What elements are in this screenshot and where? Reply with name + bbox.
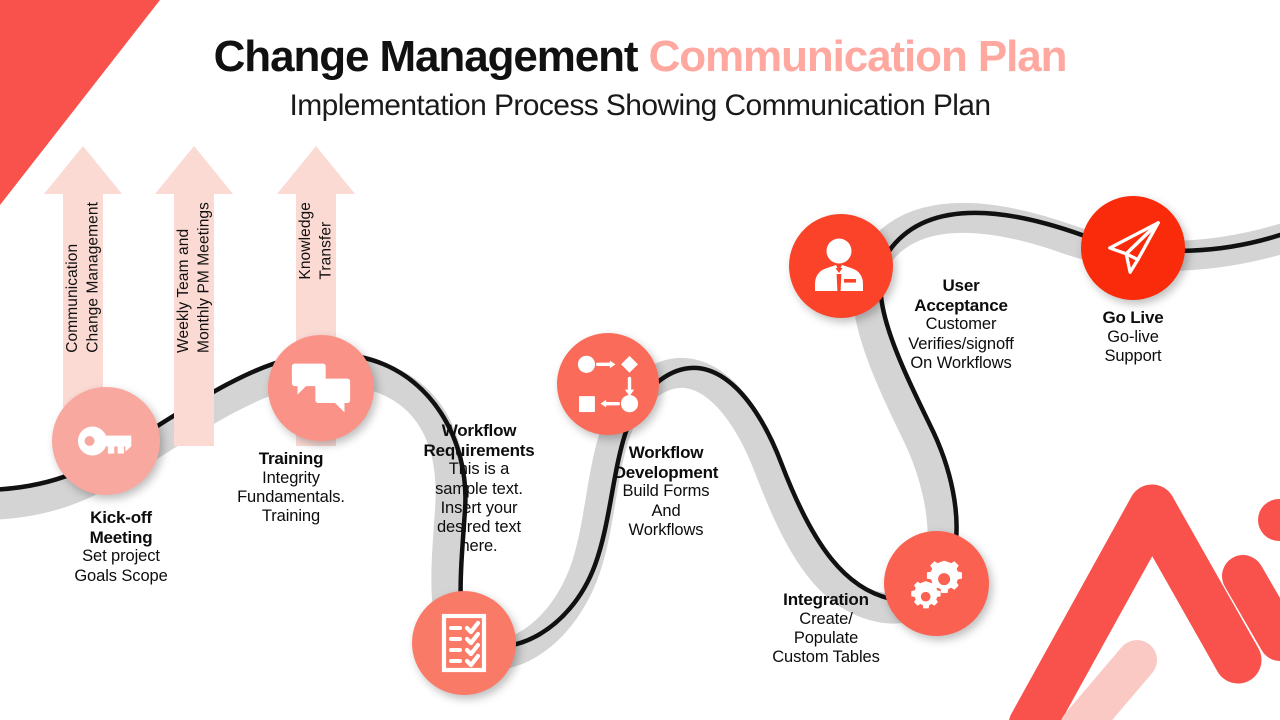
node-kickoff[interactable] [52,387,160,495]
paper-plane-icon [1102,217,1164,279]
arrow-shaft [174,194,214,446]
page-title-main: Change Management [214,32,649,81]
caption-desc: Create/ Populate Custom Tables [736,610,916,667]
node-go-live[interactable] [1081,196,1185,300]
caption-desc: Go-live Support [1055,328,1211,366]
caption-workflow-development: Workflow Development Build Forms And Wor… [585,443,747,540]
arrow-head [44,146,122,194]
page-title-accent: Communication Plan [649,32,1067,81]
caption-go-live: Go Live Go-live Support [1055,308,1211,366]
page-subtitle: Implementation Process Showing Communica… [0,89,1280,123]
node-workflow-development[interactable] [557,333,659,435]
chat-bubbles-icon [290,362,352,414]
caption-title: Go Live [1055,308,1211,328]
caption-desc: Customer Verifies/signoff On Workflows [882,315,1040,372]
caption-desc: Set project Goals Scope [28,547,214,585]
checklist-icon [439,613,489,673]
arrow-head [277,146,355,194]
caption-title: Workflow Development [585,443,747,482]
node-user-acceptance[interactable] [789,214,893,318]
caption-title: Workflow Requirements [396,421,562,460]
caption-desc: This is a sample text. Insert your desir… [396,460,562,556]
caption-title: Kick-off Meeting [28,508,214,547]
node-training[interactable] [268,335,374,441]
node-workflow-requirements[interactable] [412,591,516,695]
caption-training: Training Integrity Fundamentals. Trainin… [200,449,382,526]
caption-kickoff: Kick-off Meeting Set project Goals Scope [28,508,214,586]
flowchart-icon [577,355,639,413]
page-title: Change Management Communication Plan [0,32,1280,82]
businessman-icon [813,237,869,295]
arrow-weekly-team-monthly-pm-meetings: Weekly Team and Monthly PM Meetings [155,146,233,446]
caption-title: Training [200,449,382,469]
caption-title: User Acceptance [882,276,1040,315]
slide-canvas: Communication Change Management Weekly T… [0,0,1280,720]
arrow-head [155,146,233,194]
caption-integration: Integration Create/ Populate Custom Tabl… [736,590,916,667]
caption-title: Integration [736,590,916,610]
caption-workflow-requirements: Workflow Requirements This is a sample t… [396,421,562,556]
key-icon [75,410,137,472]
caption-user-acceptance: User Acceptance Customer Verifies/signof… [882,276,1040,373]
caption-desc: Build Forms And Workflows [585,482,747,539]
caption-desc: Integrity Fundamentals. Training [200,469,382,526]
